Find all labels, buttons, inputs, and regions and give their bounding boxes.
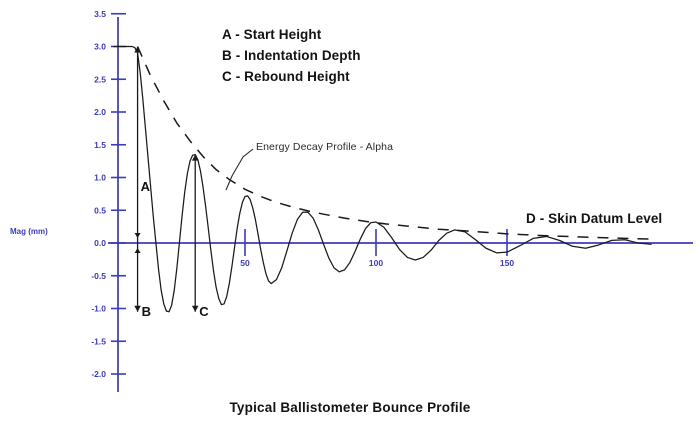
svg-text:150: 150 xyxy=(500,258,514,268)
annotation-skin-datum-level: D - Skin Datum Level xyxy=(526,211,662,226)
legend-item-a: A - Start Height xyxy=(222,24,361,45)
svg-text:0.5: 0.5 xyxy=(94,205,106,215)
svg-text:2.5: 2.5 xyxy=(94,74,106,84)
marker-label-b: B xyxy=(142,304,151,319)
svg-text:2.0: 2.0 xyxy=(94,107,106,117)
svg-text:1.0: 1.0 xyxy=(94,173,106,183)
svg-text:3.5: 3.5 xyxy=(94,9,106,19)
svg-text:3.0: 3.0 xyxy=(94,42,106,52)
svg-text:1.5: 1.5 xyxy=(94,140,106,150)
annotation-energy-decay: Energy Decay Profile - Alpha xyxy=(256,141,393,153)
marker-label-a: A xyxy=(141,179,150,194)
legend: A - Start Height B - Indentation Depth C… xyxy=(222,24,361,87)
chart-figure: 3.53.02.52.01.51.00.50.0-0.5-1.0-1.5-2.0… xyxy=(0,0,700,442)
figure-title: Typical Ballistometer Bounce Profile xyxy=(0,400,700,415)
legend-item-c: C - Rebound Height xyxy=(222,66,361,87)
svg-text:-1.0: -1.0 xyxy=(91,304,106,314)
bounce-signal-curve xyxy=(114,47,651,312)
legend-item-b: B - Indentation Depth xyxy=(222,45,361,66)
marker-label-c: C xyxy=(199,304,208,319)
svg-text:0.0: 0.0 xyxy=(94,238,106,248)
svg-text:-0.5: -0.5 xyxy=(91,271,106,281)
svg-text:-2.0: -2.0 xyxy=(91,369,106,379)
svg-text:-1.5: -1.5 xyxy=(91,336,106,346)
y-axis-label: Mag (mm) xyxy=(10,227,48,236)
svg-text:50: 50 xyxy=(240,258,250,268)
svg-text:100: 100 xyxy=(369,258,383,268)
